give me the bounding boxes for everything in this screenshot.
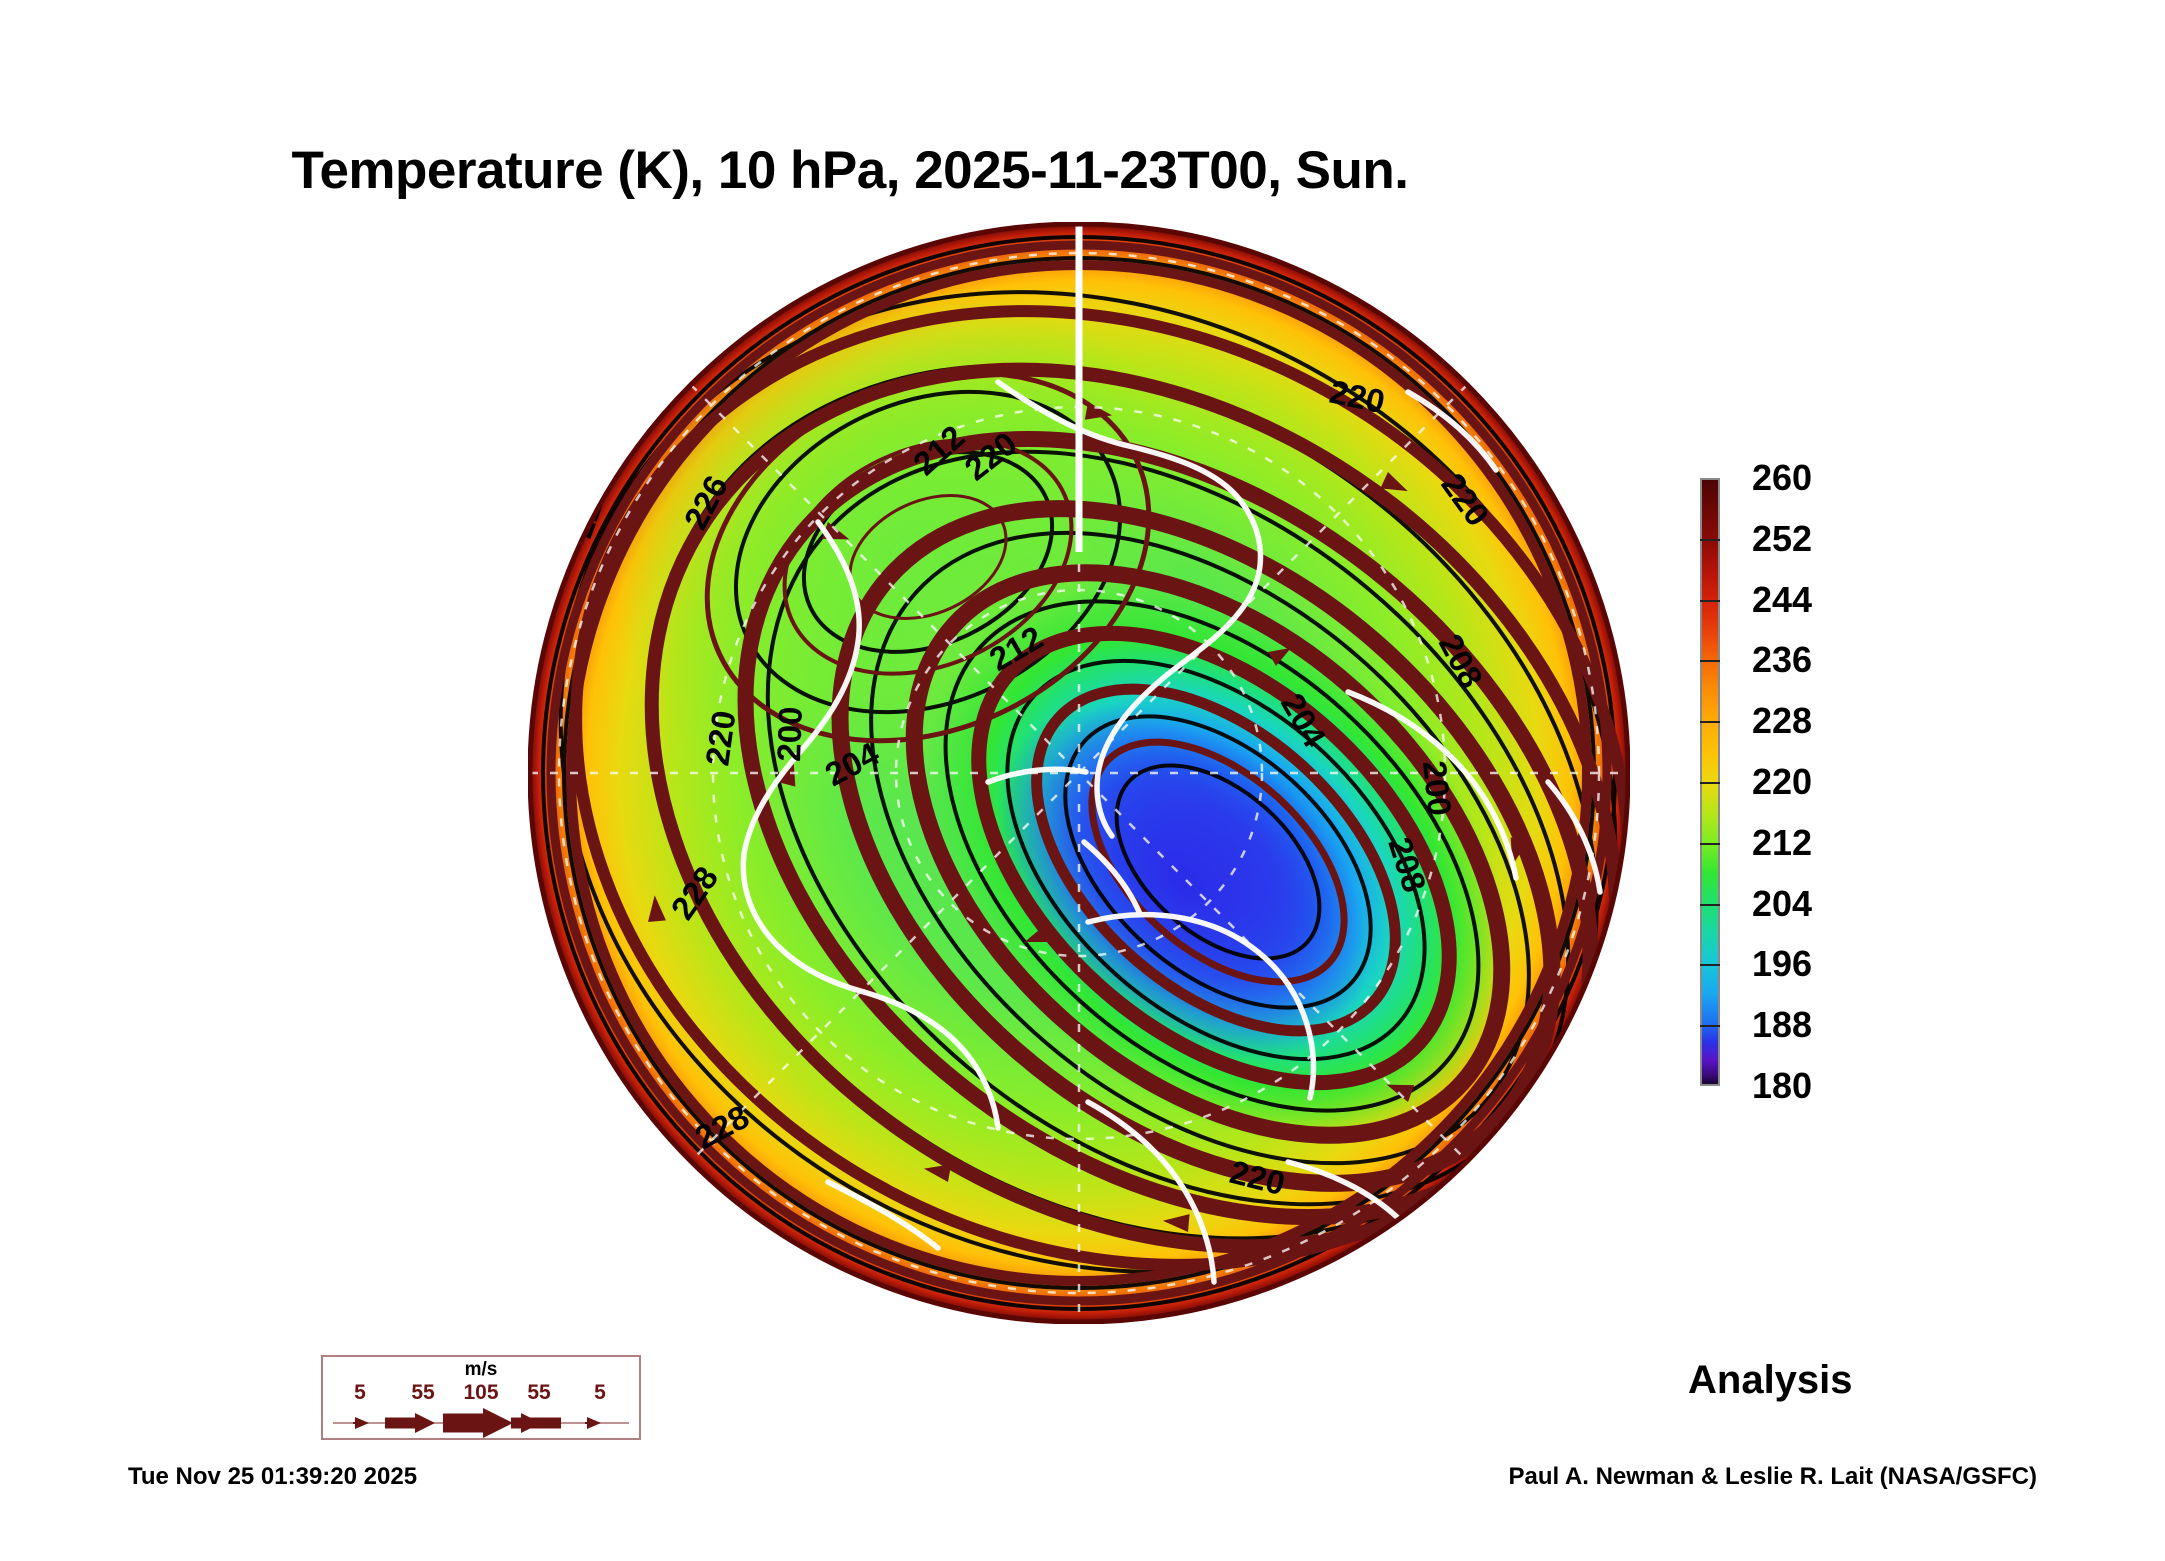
colorbar-tick-label: 204 bbox=[1752, 883, 1812, 925]
colorbar-tick bbox=[1700, 904, 1720, 906]
author-credit: Paul A. Newman & Leslie R. Lait (NASA/GS… bbox=[1508, 1463, 2037, 1491]
colorbar-tick-label: 236 bbox=[1752, 639, 1812, 681]
colorbar-tick bbox=[1700, 782, 1720, 784]
page-title: Temperature (K), 10 hPa, 2025-11-23T00, … bbox=[0, 140, 1700, 201]
colorbar: 260252244236228220212204196188180 bbox=[1700, 478, 2000, 1088]
colorbar-tick-label: 220 bbox=[1752, 761, 1812, 803]
polar-map: 220 220 220 226 236 220 220 220 220 220 … bbox=[528, 222, 1630, 1324]
colorbar-tick-label: 244 bbox=[1752, 579, 1812, 621]
wind-tick-5-left: 5 bbox=[354, 1381, 366, 1405]
colorbar-tick-label: 228 bbox=[1752, 700, 1812, 742]
colorbar-tick bbox=[1700, 660, 1720, 662]
colorbar-tick bbox=[1700, 1025, 1720, 1027]
colorbar-tick bbox=[1700, 964, 1720, 966]
colorbar-tick bbox=[1700, 539, 1720, 541]
colorbar-tick-label: 212 bbox=[1752, 822, 1812, 864]
svg-text:200: 200 bbox=[1416, 759, 1459, 818]
svg-text:200: 200 bbox=[770, 706, 809, 762]
wind-tick-105: 105 bbox=[463, 1381, 498, 1405]
svg-text:236: 236 bbox=[571, 350, 633, 416]
wind-speed-legend: m/s 5 55 105 55 5 bbox=[321, 1355, 641, 1440]
colorbar-tick-label: 252 bbox=[1752, 518, 1812, 560]
colorbar-tick bbox=[1700, 843, 1720, 845]
wind-tick-55-right: 55 bbox=[527, 1381, 550, 1405]
svg-text:220: 220 bbox=[698, 708, 742, 768]
colorbar-tick-label: 188 bbox=[1752, 1004, 1812, 1046]
colorbar-tick-label: 196 bbox=[1752, 943, 1812, 985]
wind-arrow-scale bbox=[323, 1407, 639, 1439]
colorbar-tick-label: 180 bbox=[1752, 1065, 1812, 1107]
colorbar-tick-label: 260 bbox=[1752, 457, 1812, 499]
svg-text:220: 220 bbox=[838, 222, 901, 225]
analysis-label: Analysis bbox=[1688, 1358, 1853, 1403]
wind-unit-label: m/s bbox=[323, 1359, 639, 1381]
wind-tick-5-right: 5 bbox=[594, 1381, 606, 1405]
colorbar-tick bbox=[1700, 600, 1720, 602]
wind-tick-55-left: 55 bbox=[411, 1381, 434, 1405]
generation-timestamp: Tue Nov 25 01:39:20 2025 bbox=[128, 1463, 417, 1491]
colorbar-tick bbox=[1700, 721, 1720, 723]
